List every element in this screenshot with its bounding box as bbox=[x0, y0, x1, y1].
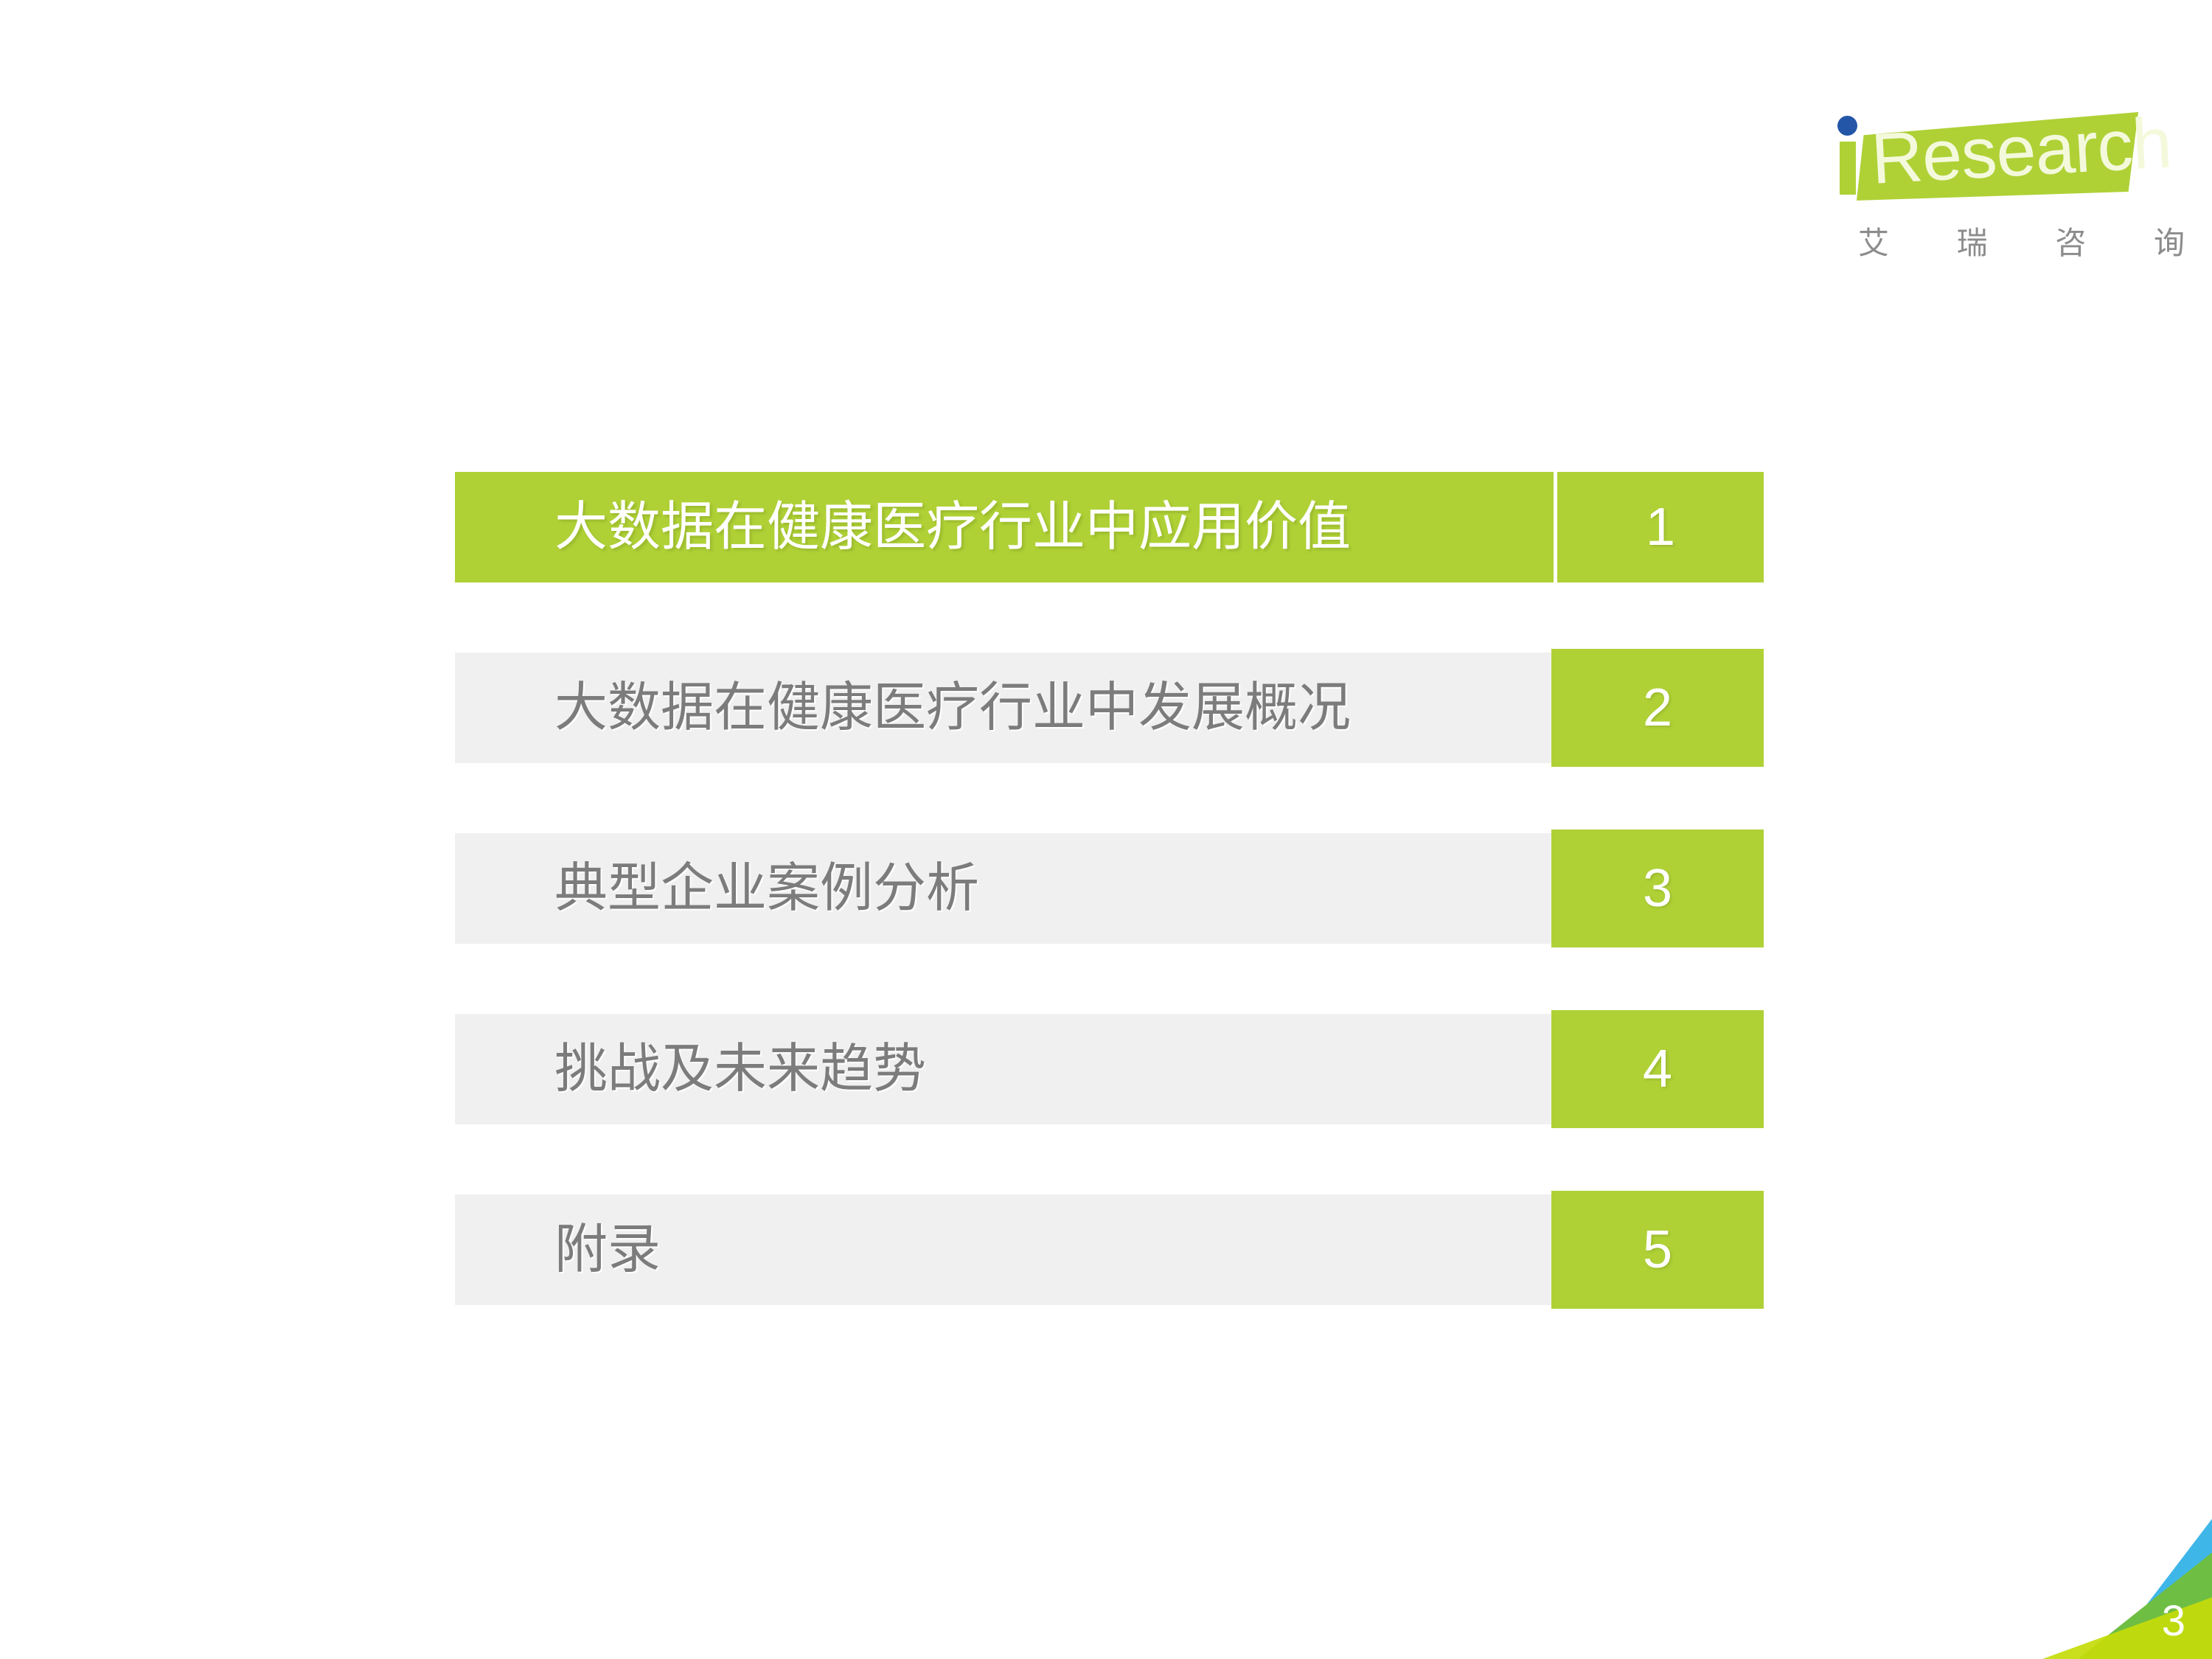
logo-wordmark: Research bbox=[1869, 108, 2138, 196]
toc-item-1[interactable]: 大数据在健康医疗行业中应用价值 1 bbox=[455, 472, 1764, 582]
toc-item-number-box: 1 bbox=[1554, 472, 1764, 582]
toc-item-label: 典型企业案例分析 bbox=[554, 833, 979, 944]
toc-item-number-box: 4 bbox=[1551, 1010, 1764, 1128]
toc-item-label: 大数据在健康医疗行业中应用价值 bbox=[554, 472, 1351, 582]
page-number: 3 bbox=[2162, 1600, 2185, 1643]
toc-item-number: 1 bbox=[1557, 472, 1764, 582]
toc-item-number: 5 bbox=[1551, 1191, 1764, 1309]
toc-item-2[interactable]: 大数据在健康医疗行业中发展概况 2 bbox=[455, 653, 1764, 763]
toc-item-4[interactable]: 挑战及未来趋势 4 bbox=[455, 1014, 1764, 1124]
toc-item-number: 3 bbox=[1551, 829, 1764, 947]
logo-i-dot-icon bbox=[1837, 116, 1857, 136]
iresearch-logo: Research 艾 瑞 咨 询 bbox=[1829, 88, 2153, 273]
toc-item-3[interactable]: 典型企业案例分析 3 bbox=[455, 833, 1764, 944]
toc-item-label: 附录 bbox=[554, 1194, 661, 1305]
toc-item-number-box: 2 bbox=[1551, 649, 1764, 767]
toc-item-number: 4 bbox=[1551, 1010, 1764, 1128]
table-of-contents: 大数据在健康医疗行业中应用价值 1 大数据在健康医疗行业中发展概况 2 典型企业… bbox=[455, 472, 1764, 1375]
toc-item-number-box: 3 bbox=[1551, 829, 1764, 947]
toc-item-label: 挑战及未来趋势 bbox=[554, 1014, 926, 1124]
toc-item-5[interactable]: 附录 5 bbox=[455, 1194, 1764, 1305]
logo-mark: Research bbox=[1829, 88, 2153, 206]
logo-i-stem-icon bbox=[1840, 142, 1856, 195]
toc-item-label: 大数据在健康医疗行业中发展概况 bbox=[554, 653, 1351, 763]
corner-decoration: 3 bbox=[2042, 1519, 2212, 1659]
toc-item-number: 2 bbox=[1551, 649, 1764, 767]
toc-item-number-box: 5 bbox=[1551, 1191, 1764, 1309]
logo-subtitle: 艾 瑞 咨 询 bbox=[1829, 218, 2153, 263]
